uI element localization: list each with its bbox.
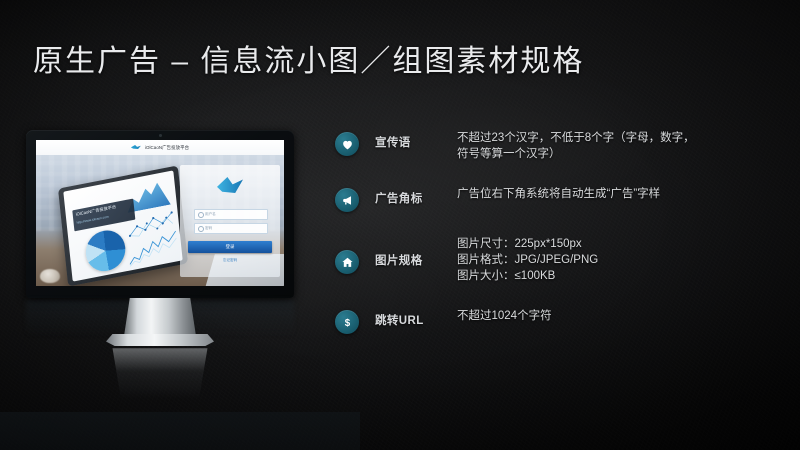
spec-list: 宣传语 不超过23个汉字，不低于8个字（字母，数字， 符号等算一个汉字） 广告角… — [335, 128, 785, 334]
spec-row-slogan: 宣传语 不超过23个汉字，不低于8个字（字母，数字， 符号等算一个汉字） — [335, 128, 785, 162]
coffee-cup-prop — [40, 269, 60, 283]
password-field[interactable]: 密码 — [194, 223, 268, 234]
spec-label: 宣传语 — [375, 134, 441, 150]
spec-value: 广告位右下角系统将自动生成“广告”字样 — [457, 186, 785, 202]
spec-value: 不超过1024个字符 — [457, 308, 785, 324]
monitor-screen: iOlCaoN广告投放平台 — [36, 140, 284, 286]
spec-value-line: 图片大小：≤100KB — [457, 268, 785, 284]
site-name-label: iOlCaoN广告投放平台 — [145, 145, 189, 151]
webcam-dot — [159, 134, 162, 137]
tablet-label-box: iOlCaoN广告投放平台 http://www.iolcaon.com — [72, 199, 135, 232]
spec-value: 不超过23个汉字，不低于8个字（字母，数字， 符号等算一个汉字） — [457, 130, 785, 162]
spec-row-image-spec: 图片规格 图片尺寸：225px*150px 图片格式：JPG/JPEG/PNG … — [335, 234, 785, 284]
spec-value-line: 广告位右下角系统将自动生成“广告”字样 — [457, 186, 785, 202]
spec-value-line: 图片尺寸：225px*150px — [457, 236, 785, 252]
tablet-prop: iOlCaoN广告投放平台 http://www.iolcaon.com — [58, 165, 188, 286]
spec-value-line: 不超过23个汉字，不低于8个字（字母，数字， — [457, 130, 785, 146]
spec-value-line: 不超过1024个字符 — [457, 308, 785, 324]
spec-row-jump-url: $ 跳转URL 不超过1024个字符 — [335, 306, 785, 334]
spec-value-line: 符号等算一个汉字） — [457, 146, 785, 162]
page-title: 原生广告 – 信息流小图／组图素材规格 — [33, 36, 584, 80]
floor-gradient — [0, 412, 360, 450]
user-icon — [198, 212, 204, 218]
forgot-password-link[interactable]: 忘记密码 — [180, 258, 280, 263]
svg-text:$: $ — [344, 318, 350, 329]
username-field[interactable]: 用户名 — [194, 209, 268, 220]
home-icon — [335, 250, 359, 274]
spec-value-line: 图片格式：JPG/JPEG/PNG — [457, 252, 785, 268]
spec-label: 图片规格 — [375, 252, 441, 268]
login-button[interactable]: 登录 — [188, 241, 272, 253]
hero-photo: iOlCaoN广告投放平台 http://www.iolcaon.com 用户名 — [36, 155, 284, 286]
monitor-preview: iOlCaoN广告投放平台 — [26, 112, 318, 422]
monitor-bezel: iOlCaoN广告投放平台 — [26, 130, 294, 298]
tablet-screen: iOlCaoN广告投放平台 http://www.iolcaon.com — [63, 170, 182, 281]
spec-label: 广告角标 — [375, 190, 441, 206]
megaphone-icon — [335, 188, 359, 212]
monitor-base — [106, 334, 214, 346]
username-placeholder: 用户名 — [205, 212, 216, 217]
spec-row-ad-badge: 广告角标 广告位右下角系统将自动生成“广告”字样 — [335, 184, 785, 212]
heart-icon — [335, 132, 359, 156]
stand-reflection — [106, 348, 214, 400]
bird-logo-icon — [217, 177, 243, 193]
password-placeholder: 密码 — [205, 226, 212, 231]
slide-canvas: 原生广告 – 信息流小图／组图素材规格 iOlCaoN广告投放平台 — [0, 0, 800, 450]
pie-chart — [84, 227, 127, 275]
lock-icon — [198, 226, 204, 232]
spec-value: 图片尺寸：225px*150px 图片格式：JPG/JPEG/PNG 图片大小：… — [457, 236, 785, 284]
spec-label: 跳转URL — [375, 312, 441, 328]
bird-logo-icon — [131, 144, 142, 151]
login-panel: 用户名 密码 登录 忘记密码 — [180, 165, 280, 277]
monitor-neck — [124, 298, 196, 336]
site-header: iOlCaoN广告投放平台 — [36, 140, 284, 156]
dollar-icon: $ — [335, 310, 359, 334]
